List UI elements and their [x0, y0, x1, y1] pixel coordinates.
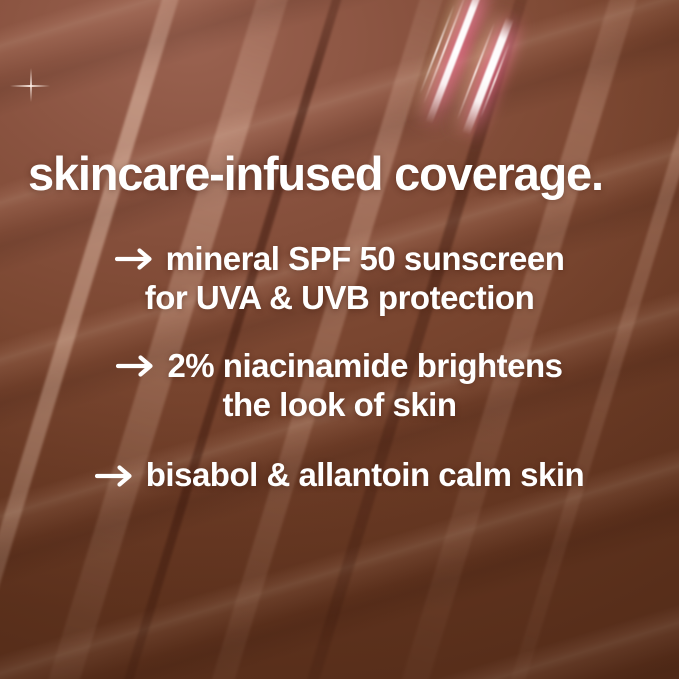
claim-line: the look of skin [0, 386, 679, 425]
claim-text: for UVA & UVB protection [145, 279, 535, 316]
claims-list: mineral SPF 50 sunscreen for UVA & UVB p… [0, 240, 679, 495]
arrow-right-icon [115, 247, 157, 271]
claim-line: 2% niacinamide brightens [0, 347, 679, 386]
list-item: 2% niacinamide brightens the look of ski… [0, 347, 679, 424]
claim-line: bisabol & allantoin calm skin [0, 456, 679, 495]
product-claims-graphic: skincare-infused coverage. mineral SPF 5… [0, 0, 679, 679]
claim-line: mineral SPF 50 sunscreen [0, 240, 679, 279]
arrow-right-icon [95, 464, 137, 488]
arrow-right-icon [116, 354, 158, 378]
claim-text: the look of skin [222, 386, 456, 423]
claim-line: for UVA & UVB protection [0, 279, 679, 318]
claim-text: bisabol & allantoin calm skin [146, 456, 584, 493]
list-item: bisabol & allantoin calm skin [0, 456, 679, 495]
page-title: skincare-infused coverage. [28, 150, 603, 197]
claim-text: 2% niacinamide brightens [167, 347, 562, 384]
list-item: mineral SPF 50 sunscreen for UVA & UVB p… [0, 240, 679, 317]
claims-content: skincare-infused coverage. mineral SPF 5… [0, 0, 679, 679]
claim-text: mineral SPF 50 sunscreen [166, 240, 565, 277]
